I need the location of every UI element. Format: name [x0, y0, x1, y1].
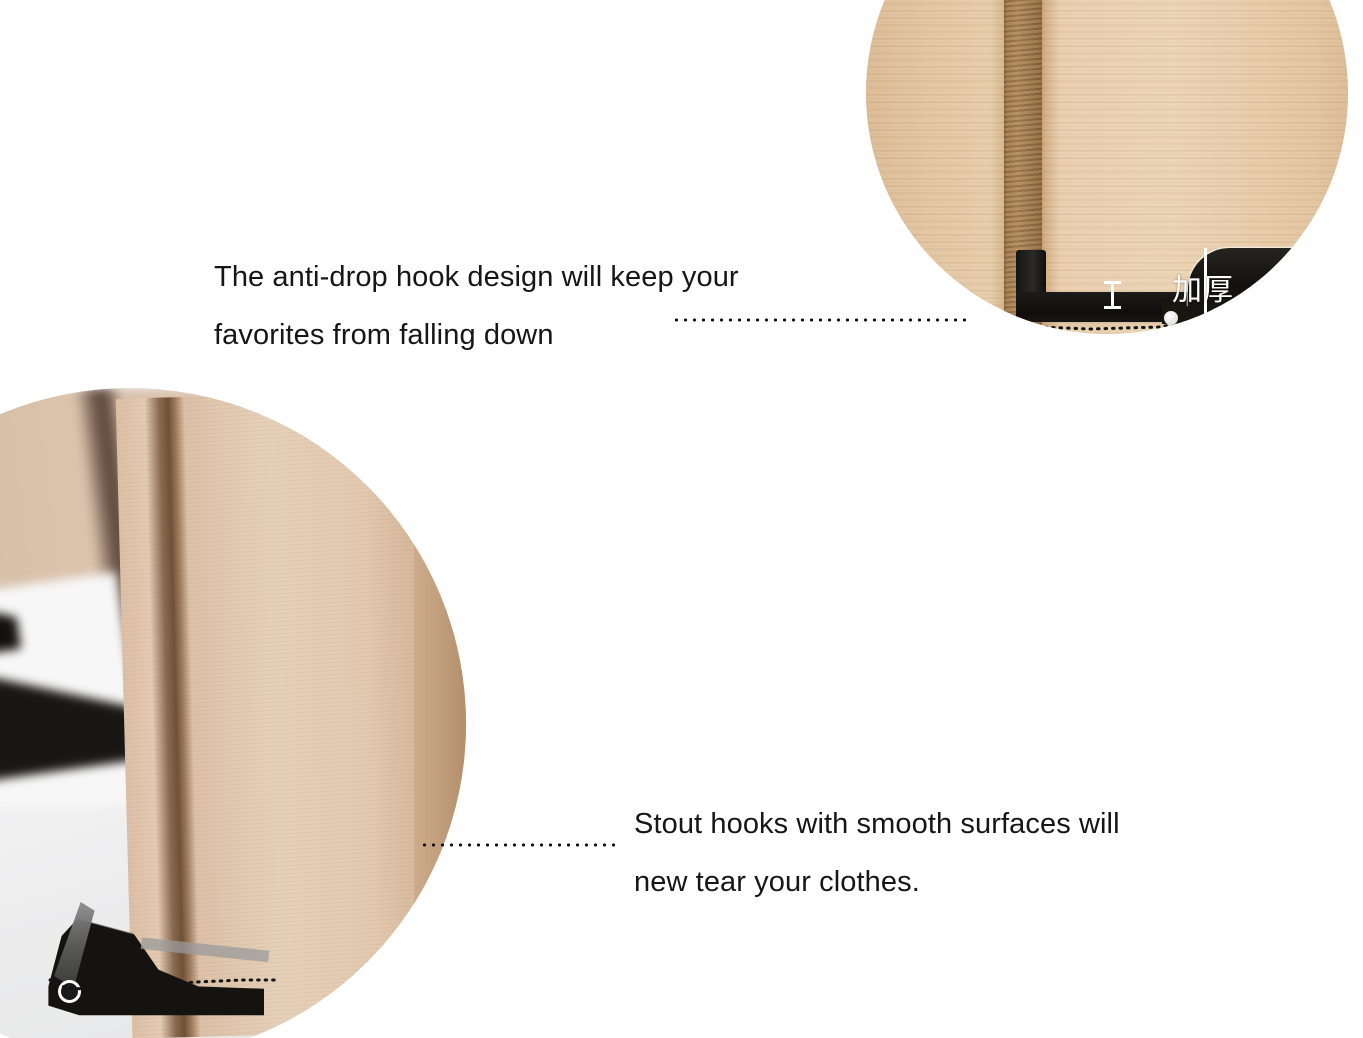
caption-line: The anti-drop hook design will keep your — [214, 248, 739, 306]
measure-dot-marker — [1164, 311, 1178, 325]
caption-line: favorites from falling down — [214, 306, 739, 364]
shelf-board-end-grain — [414, 508, 466, 948]
caption-line: Stout hooks with smooth surfaces will — [634, 795, 1120, 853]
caption-stout-hooks: Stout hooks with smooth surfaces will ne… — [634, 795, 1120, 911]
photo-bottom-left-hook-detail — [0, 388, 466, 1038]
thickened-label: 加厚 — [1172, 276, 1234, 306]
leader-line-bottom — [420, 843, 620, 847]
hook-contour-trace — [46, 966, 276, 992]
product-infographic: 加厚 The anti-drop hook design will keep y… — [0, 0, 1363, 1038]
caption-anti-drop-hook: The anti-drop hook design will keep your… — [214, 248, 739, 364]
photo-top-right-hook-detail: 加厚 — [866, 0, 1348, 334]
thickness-measure-bracket — [1111, 281, 1114, 309]
caption-line: new tear your clothes. — [634, 853, 1120, 911]
foreground-hook — [44, 900, 264, 1020]
